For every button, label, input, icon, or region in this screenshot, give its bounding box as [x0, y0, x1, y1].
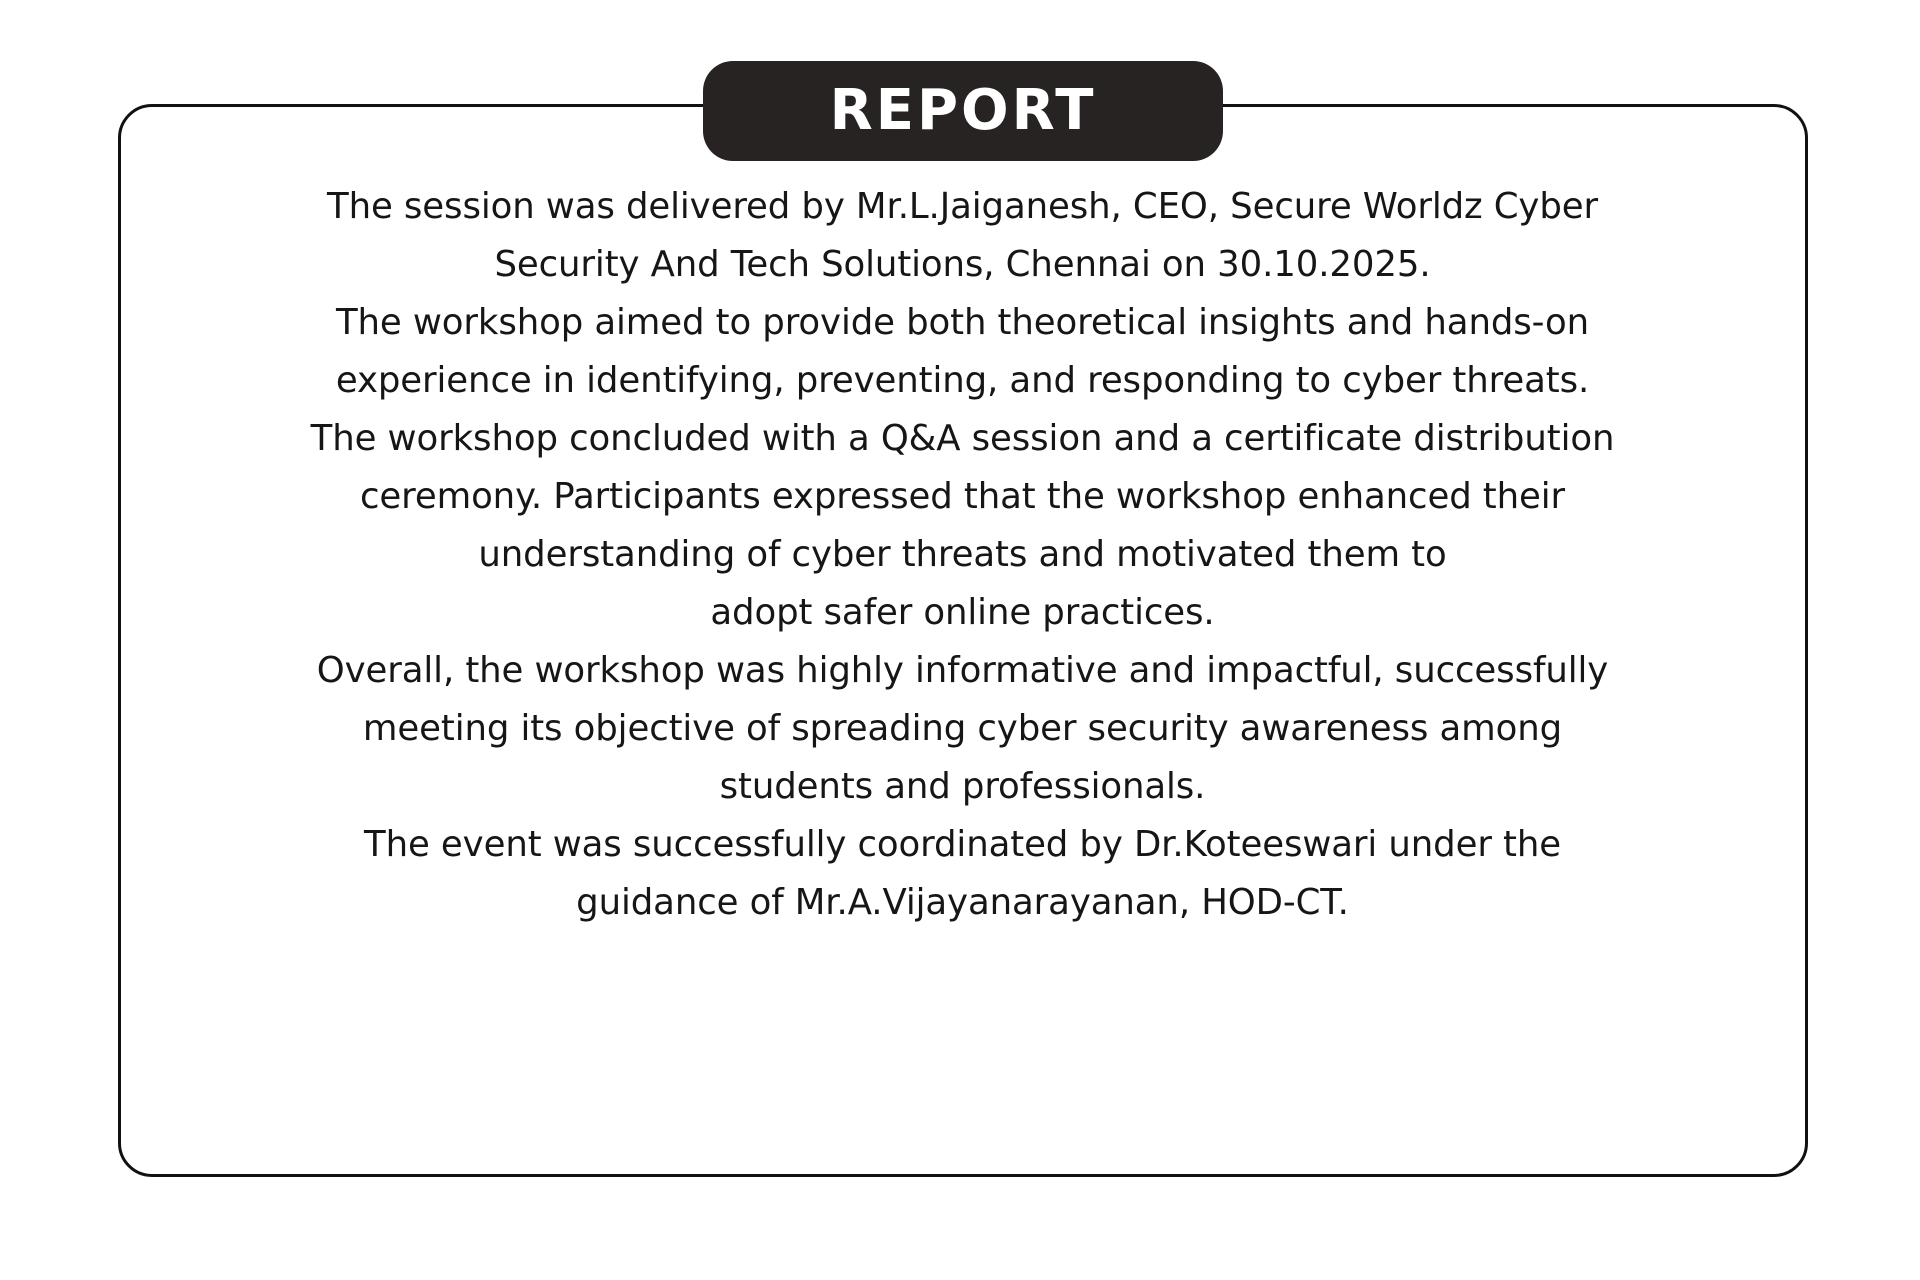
report-badge-label: REPORT [830, 83, 1097, 139]
report-page: REPORT The session was delivered by Mr.L… [0, 0, 1920, 1280]
report-paragraph: Overall, the workshop was highly informa… [140, 642, 1785, 816]
report-paragraph: The event was successfully coordinated b… [140, 816, 1785, 932]
report-badge: REPORT [703, 61, 1223, 161]
report-body: The session was delivered by Mr.L.Jaigan… [140, 178, 1785, 932]
report-paragraph: The session was delivered by Mr.L.Jaigan… [140, 178, 1785, 294]
report-paragraph: The workshop concluded with a Q&A sessio… [140, 410, 1785, 642]
report-paragraph: The workshop aimed to provide both theor… [140, 294, 1785, 410]
